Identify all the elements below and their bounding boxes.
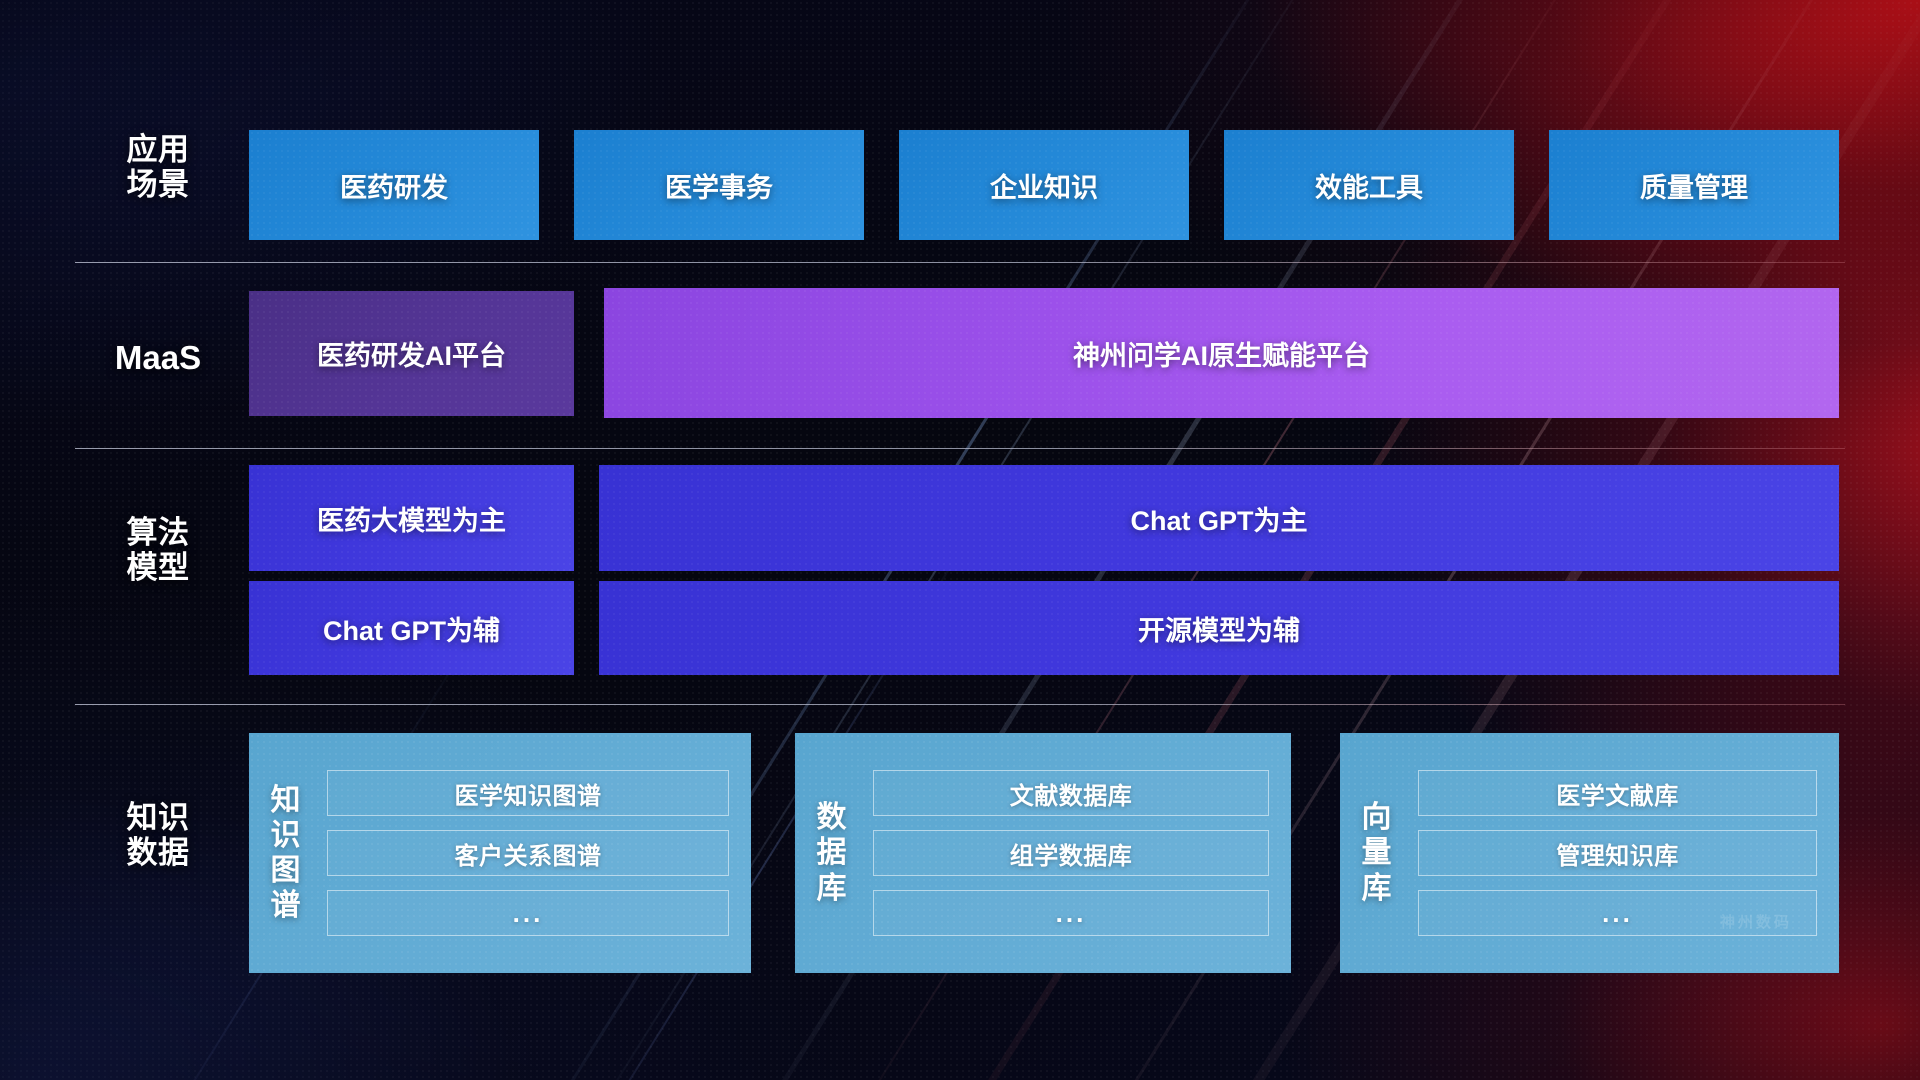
architecture-diagram: 应用 场景 医药研发 医学事务 企业知识 效能工具 质量管理 MaaS 医药研发… [0,0,1920,1080]
maas-platform-right[interactable]: 神州问学AI原生赋能平台 [604,288,1839,418]
row-label-knowledge-data: 知识 数据 [92,800,224,871]
maas-platform-right-label: 神州问学AI原生赋能平台 [1073,334,1370,373]
algo-cell-primary-pharma[interactable]: 医药大模型为主 [249,465,574,571]
algo-cell-secondary-chatgpt[interactable]: Chat GPT为辅 [249,581,574,675]
knowledge-item-2-0[interactable]: 医学文献库 [1418,770,1817,816]
row-label-algorithm-model: 算法 模型 [92,515,224,586]
app-tile-3-label: 效能工具 [1315,166,1423,205]
app-tile-3[interactable]: 效能工具 [1224,130,1514,240]
app-tile-0-label: 医药研发 [340,166,448,205]
knowledge-group-2-items: 医学文献库 管理知识库 ... [1414,733,1839,973]
knowledge-group-0-title: 知 识 图 谱 [249,733,323,973]
knowledge-group-2-title: 向 量 库 [1340,733,1414,973]
app-tile-1[interactable]: 医学事务 [574,130,864,240]
knowledge-group-vector-store[interactable]: 向 量 库 医学文献库 管理知识库 ... [1340,733,1839,973]
knowledge-group-1-title: 数 据 库 [795,733,869,973]
knowledge-group-knowledge-graph[interactable]: 知 识 图 谱 医学知识图谱 客户关系图谱 ... [249,733,751,973]
knowledge-group-0-items: 医学知识图谱 客户关系图谱 ... [323,733,751,973]
algo-cell-secondary-opensource[interactable]: 开源模型为辅 [599,581,1839,675]
maas-platform-left-label: 医药研发AI平台 [317,334,506,373]
divider-2 [75,448,1845,449]
knowledge-group-1-items: 文献数据库 组学数据库 ... [869,733,1291,973]
algo-cell-primary-pharma-label: 医药大模型为主 [317,499,506,538]
maas-platform-left[interactable]: 医药研发AI平台 [249,291,574,416]
knowledge-item-2-1[interactable]: 管理知识库 [1418,830,1817,876]
knowledge-group-database[interactable]: 数 据 库 文献数据库 组学数据库 ... [795,733,1291,973]
algo-cell-primary-chatgpt-label: Chat GPT为主 [1130,499,1307,538]
knowledge-item-0-1[interactable]: 客户关系图谱 [327,830,729,876]
algo-cell-secondary-opensource-label: 开源模型为辅 [1138,609,1300,648]
app-tile-0[interactable]: 医药研发 [249,130,539,240]
row-label-application-scenario: 应用 场景 [92,132,224,203]
knowledge-item-1-2[interactable]: ... [873,890,1269,936]
divider-3 [75,704,1845,705]
app-tile-1-label: 医学事务 [665,166,773,205]
app-tile-2-label: 企业知识 [990,166,1098,205]
knowledge-item-0-0[interactable]: 医学知识图谱 [327,770,729,816]
app-tile-4-label: 质量管理 [1640,166,1748,205]
knowledge-item-0-2[interactable]: ... [327,890,729,936]
row-label-maas: MaaS [92,339,224,377]
knowledge-item-2-2[interactable]: ... [1418,890,1817,936]
algo-cell-secondary-chatgpt-label: Chat GPT为辅 [323,609,500,648]
divider-1 [75,262,1845,263]
knowledge-item-1-1[interactable]: 组学数据库 [873,830,1269,876]
app-tile-2[interactable]: 企业知识 [899,130,1189,240]
algo-cell-primary-chatgpt[interactable]: Chat GPT为主 [599,465,1839,571]
app-tile-4[interactable]: 质量管理 [1549,130,1839,240]
knowledge-item-1-0[interactable]: 文献数据库 [873,770,1269,816]
